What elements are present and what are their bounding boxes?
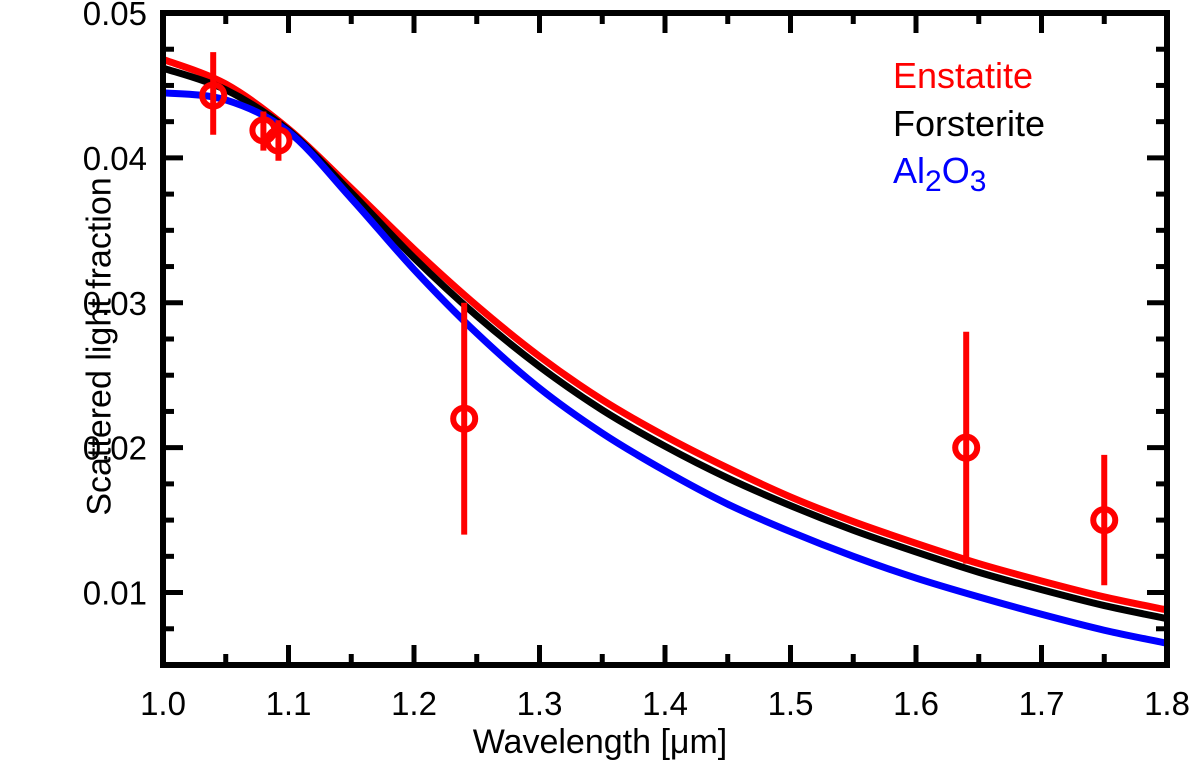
legend-item-al2o3: Al2O3 [893, 147, 1045, 202]
y-tick-label: 0.05 [83, 0, 147, 32]
x-tick-label: 1.4 [642, 685, 688, 722]
x-tick-label: 1.1 [266, 685, 312, 722]
chart-legend: EnstatiteForsteriteAl2O3 [893, 52, 1045, 202]
legend-item-enstatite: Enstatite [893, 52, 1045, 100]
x-tick-label: 1.2 [391, 685, 437, 722]
x-tick-label: 1.6 [893, 685, 939, 722]
y-axis-title: Scattered light fraction [81, 47, 120, 647]
x-tick-label: 1.8 [1144, 685, 1190, 722]
legend-item-forsterite: Forsterite [893, 100, 1045, 148]
x-tick-label: 1.5 [768, 685, 814, 722]
x-tick-label: 1.3 [517, 685, 563, 722]
x-tick-label: 1.7 [1019, 685, 1065, 722]
chart-figure: 1.01.11.21.31.41.51.61.71.80.010.020.030… [0, 0, 1200, 783]
x-axis-title: Wavelength [μm] [0, 723, 1200, 762]
x-tick-label: 1.0 [140, 685, 186, 722]
